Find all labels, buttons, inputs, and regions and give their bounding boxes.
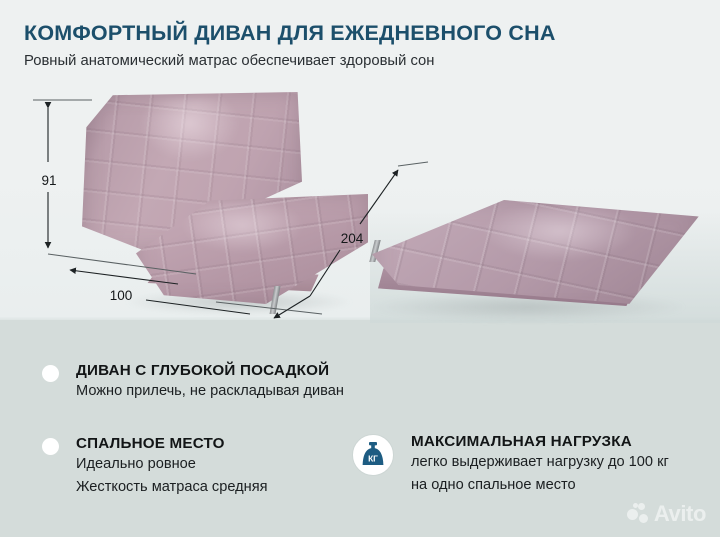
- dimension-label-width: 100: [104, 285, 138, 305]
- page-subtitle: Ровный анатомический матрас обеспечивает…: [24, 53, 696, 69]
- feature-line: Жесткость матраса средняя: [76, 477, 268, 498]
- feature-body: ДИВАН С ГЛУБОКОЙ ПОСАДКОЙ Можно прилечь,…: [76, 362, 344, 402]
- dimension-label-height: 91: [34, 170, 64, 190]
- feature-title: СПАЛЬНОЕ МЕСТО: [76, 435, 268, 452]
- bullet-dot-icon: [42, 365, 59, 382]
- avito-logo-icon: [627, 503, 649, 525]
- feature-item-sleeping-area: СПАЛЬНОЕ МЕСТО Идеально ровное Жесткость…: [42, 435, 268, 498]
- weight-glyph: КГ: [360, 441, 386, 469]
- feature-list: ДИВАН С ГЛУБОКОЙ ПОСАДКОЙ Можно прилечь,…: [0, 348, 720, 537]
- avito-wordmark: Avito: [654, 503, 706, 525]
- feature-body: СПАЛЬНОЕ МЕСТО Идеально ровное Жесткость…: [76, 435, 268, 498]
- feature-line: на одно спальное место: [411, 475, 669, 496]
- weight-icon-text: КГ: [368, 454, 378, 464]
- feature-item-deep-seat: ДИВАН С ГЛУБОКОЙ ПОСАДКОЙ Можно прилечь,…: [42, 362, 344, 402]
- feature-line: Можно прилечь, не раскладывая диван: [76, 381, 344, 402]
- promo-image: КОМФОРТНЫЙ ДИВАН ДЛЯ ЕЖЕДНЕВНОГО СНА Ров…: [0, 0, 720, 537]
- avito-watermark: Avito: [627, 503, 706, 525]
- dimension-annotations: 91 100 204: [0, 88, 720, 326]
- header: КОМФОРТНЫЙ ДИВАН ДЛЯ ЕЖЕДНЕВНОГО СНА Ров…: [24, 22, 696, 69]
- feature-item-max-load: КГ МАКСИМАЛЬНАЯ НАГРУЗКА легко выдержива…: [352, 433, 669, 496]
- bullet-dot-icon: [42, 438, 59, 455]
- feature-body: МАКСИМАЛЬНАЯ НАГРУЗКА легко выдерживает …: [411, 433, 669, 496]
- feature-line: Идеально ровное: [76, 454, 268, 475]
- page-title: КОМФОРТНЫЙ ДИВАН ДЛЯ ЕЖЕДНЕВНОГО СНА: [24, 22, 696, 46]
- feature-title: МАКСИМАЛЬНАЯ НАГРУЗКА: [411, 433, 669, 450]
- dimension-label-length: 204: [333, 228, 371, 248]
- feature-line: легко выдерживает нагрузку до 100 кг: [411, 452, 669, 473]
- feature-title: ДИВАН С ГЛУБОКОЙ ПОСАДКОЙ: [76, 362, 344, 379]
- weight-kg-icon: КГ: [352, 434, 394, 476]
